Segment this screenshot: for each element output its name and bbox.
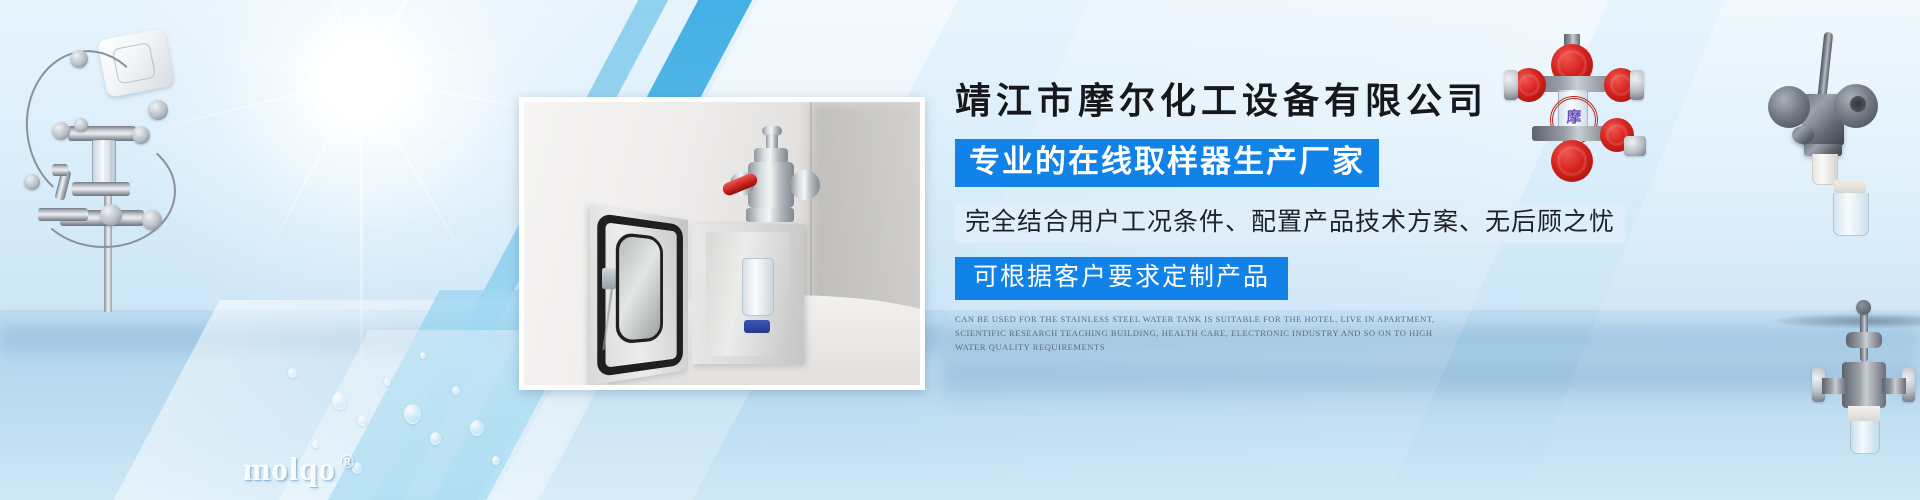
blue-bottle-cap <box>744 320 770 333</box>
headline-badge: 专业的在线取样器生产厂家 <box>955 139 1379 187</box>
water-depth-band <box>940 345 1920 405</box>
sampler-cabinet <box>692 224 804 364</box>
sampling-valve-image <box>1800 292 1920 457</box>
inlet-pipe <box>1822 378 1846 394</box>
water-droplet <box>288 368 297 378</box>
custom-product-badge[interactable]: 可根据客户要求定制产品 <box>955 257 1288 300</box>
flange <box>24 174 40 190</box>
product-photo <box>519 97 925 390</box>
registered-trademark-icon: ® <box>340 452 355 473</box>
door-window <box>616 232 663 345</box>
logo-watermark: molqo® <box>243 452 355 489</box>
valve-body <box>1842 362 1886 408</box>
water-droplet <box>420 352 426 359</box>
door-key <box>602 268 616 289</box>
flange <box>100 204 122 226</box>
sample-bottle-image <box>1828 180 1874 250</box>
flange <box>148 100 168 120</box>
flange <box>74 118 88 132</box>
sun-ray <box>360 0 523 79</box>
flange <box>52 122 70 140</box>
bottle-body <box>1833 193 1869 236</box>
water-droplet <box>358 415 367 426</box>
banner-text-block: 靖江市摩尔化工设备有限公司 专业的在线取样器生产厂家 完全结合用户工况条件、配置… <box>955 80 1675 354</box>
sun-ray <box>360 78 363 398</box>
water-droplet <box>312 440 319 448</box>
sun-ray <box>361 41 507 79</box>
english-description: CAN BE USED FOR THE STAINLESS STEEL WATE… <box>955 312 1455 354</box>
outlet-pipe <box>1882 378 1906 394</box>
company-name: 靖江市摩尔化工设备有限公司 <box>955 80 1675 123</box>
bottle-cap <box>1834 180 1866 194</box>
flange <box>132 126 150 144</box>
packing-nut <box>1846 332 1882 348</box>
water-droplet <box>404 404 421 424</box>
flange <box>70 50 88 68</box>
inline-sampler-probe-image <box>8 22 198 312</box>
lever-flange-valve-image <box>1762 28 1912 188</box>
logo-text: molqo <box>243 452 336 488</box>
water-droplet <box>470 420 484 436</box>
valve-base <box>746 208 794 222</box>
stem-knob <box>1856 300 1871 315</box>
valve-assembly <box>720 126 830 236</box>
flange <box>142 210 162 230</box>
bottle-cap <box>1848 406 1880 422</box>
valve-flange-right <box>790 170 820 200</box>
subheadline: 完全结合用户工况条件、配置产品技术方案、无后顾之忧 <box>955 203 1625 243</box>
promotional-banner: 摩 靖江市摩尔化工设备有限公司 专业的在线取样器生产 <box>0 0 1920 500</box>
water-droplet <box>430 432 441 445</box>
sun-ray <box>252 78 362 282</box>
water-droplet <box>452 386 460 395</box>
valve-branch-left <box>38 208 88 221</box>
side-seal-cap <box>1792 126 1814 144</box>
sun-flare-icon <box>210 0 510 230</box>
sun-ray <box>281 0 362 78</box>
sight-glass <box>92 140 116 186</box>
cabinet-door <box>590 205 688 386</box>
flange-bore <box>1850 96 1866 112</box>
water-droplet <box>332 392 347 410</box>
sun-ray <box>360 78 477 278</box>
valve-body-mid <box>72 182 130 196</box>
sample-bottle <box>742 258 774 316</box>
sample-bottle <box>1850 421 1880 454</box>
flange-left <box>1768 86 1810 128</box>
sun-ray <box>213 51 361 79</box>
sun-ray <box>360 77 484 165</box>
water-droplet <box>492 456 500 465</box>
reflection-shadow <box>1776 314 1920 328</box>
sun-ray <box>242 77 361 171</box>
water-droplet <box>384 378 391 386</box>
relief-valve-cap <box>52 164 68 176</box>
